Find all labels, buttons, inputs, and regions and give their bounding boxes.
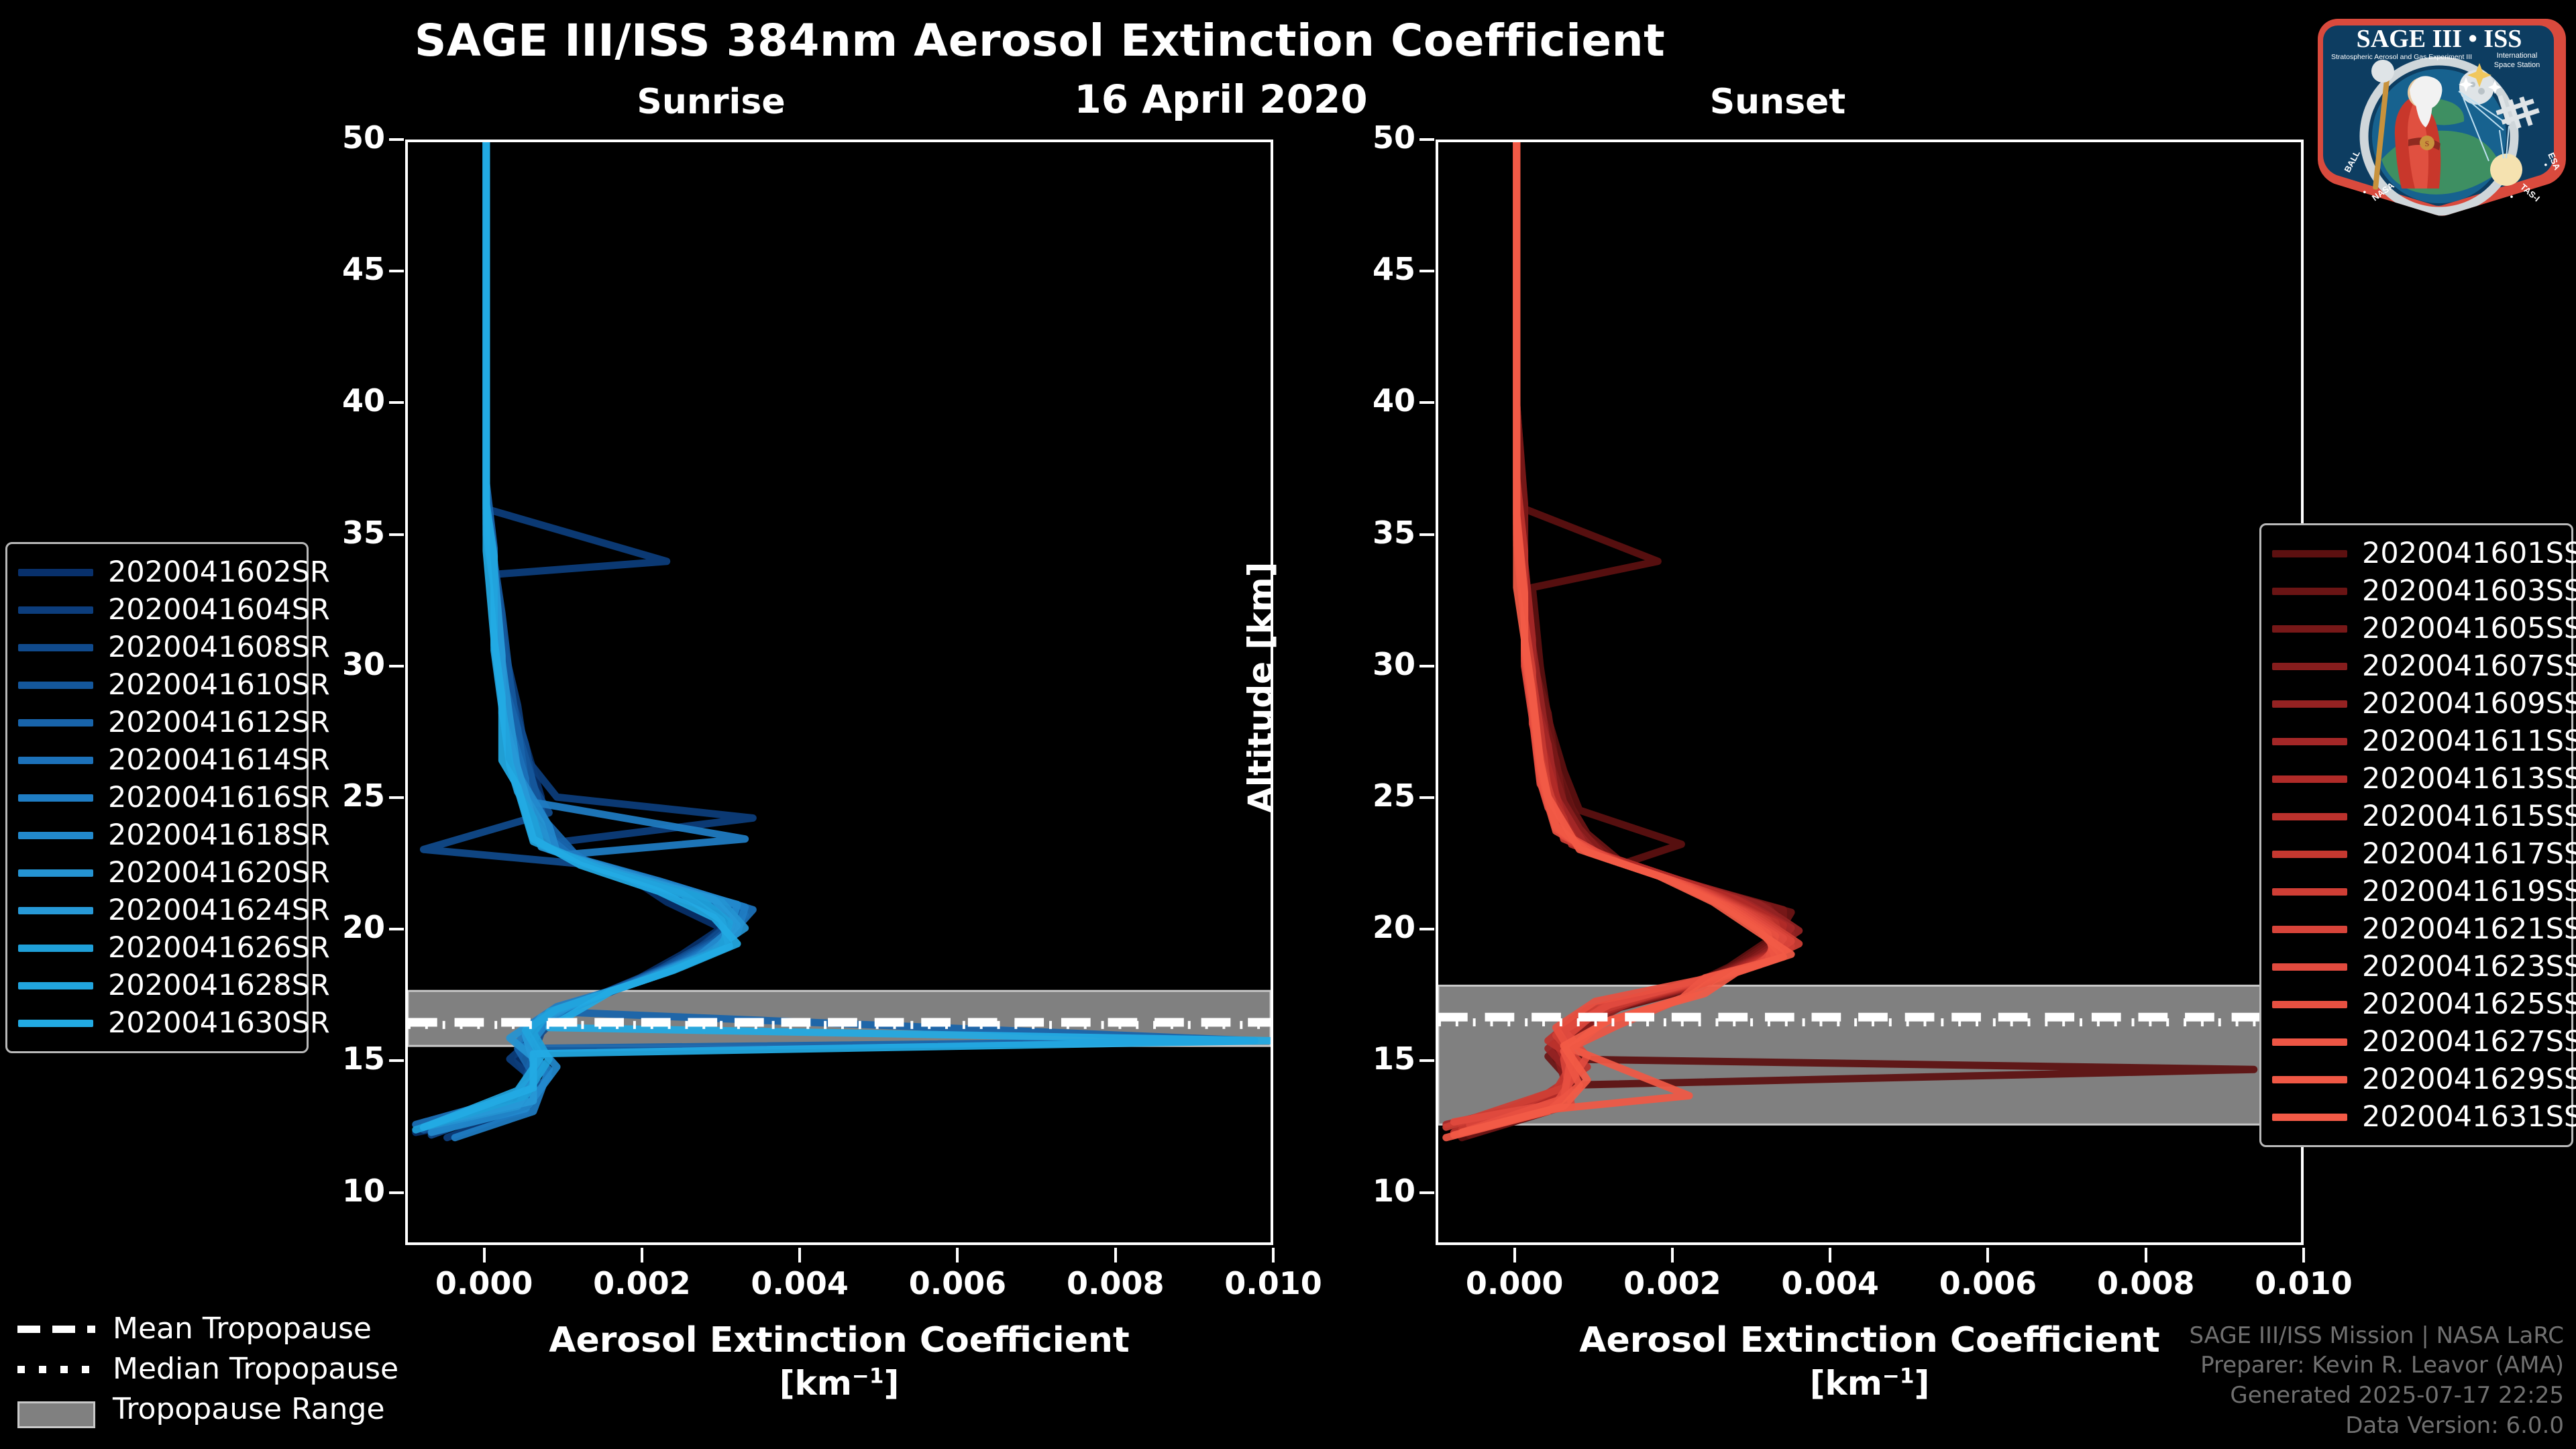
legend-item[interactable]: 2020041601SS [2272,535,2558,572]
profile-line [1446,142,1799,1127]
profile-line [423,142,1271,1127]
legend-event-label: 2020041625SS [2362,987,2576,1021]
x-axis-tick-label: 0.004 [726,1265,873,1301]
y-axis-tick-mark [389,928,404,930]
sunrise-legend[interactable]: 2020041602SR2020041604SR2020041608SR2020… [5,542,309,1053]
profile-line [1454,142,1783,1132]
legend-color-swatch [2272,813,2347,820]
legend-color-swatch [18,982,93,989]
profile-line [431,142,737,1132]
svg-text:S: S [2425,139,2430,148]
y-axis-tick-label: 10 [284,1173,385,1209]
legend-item[interactable]: 2020041625SS [2272,985,2558,1023]
legend-color-swatch [18,1020,93,1027]
legend-color-swatch [18,794,93,802]
legend-color-swatch [2272,625,2347,633]
legend-color-swatch [2272,1076,2347,1083]
y-axis-tick-label: 35 [1315,515,1415,551]
legend-item[interactable]: 2020041627SS [2272,1023,2558,1061]
legend-item[interactable]: 2020041607SS [2272,647,2558,685]
x-axis-tick-label: 0.002 [568,1265,716,1301]
legend-item[interactable]: 2020041631SS [2272,1098,2558,1136]
profile-line [1446,142,1791,1124]
y-axis-tick-mark [1419,1059,1434,1062]
patch-subtitle-left: Stratospheric Aerosol and Gas Experiment… [2331,53,2472,61]
legend-event-label: 2020041629SS [2362,1063,2576,1096]
legend-color-swatch [2272,1038,2347,1046]
legend-item[interactable]: 2020041615SS [2272,798,2558,835]
legend-color-swatch [18,832,93,839]
x-axis-tick-mark [2145,1248,2147,1263]
x-axis-tick-label: 0.000 [411,1265,558,1301]
legend-label-median: Median Tropopause [113,1352,398,1386]
y-axis-tick-label: 45 [1315,251,1415,287]
legend-item[interactable]: 2020041611SS [2272,722,2558,760]
y-axis-tick-label: 45 [284,251,385,287]
legend-item[interactable]: 2020041603SS [2272,572,2558,610]
legend-item[interactable]: 2020041613SS [2272,760,2558,798]
legend-event-label: 2020041614SR [108,743,330,777]
page-title: SAGE III/ISS 384nm Aerosol Extinction Co… [0,15,2080,66]
legend-item[interactable]: 2020041624SR [18,892,293,929]
x-axis-tick-label: 0.008 [2072,1265,2220,1301]
legend-color-swatch [18,606,93,614]
legend-event-label: 2020041619SS [2362,875,2576,908]
legend-color-swatch [2272,550,2347,557]
x-axis-tick-mark [1272,1248,1275,1263]
legend-color-swatch [2272,963,2347,971]
y-axis-tick-mark [389,138,404,141]
y-axis-tick-mark [389,665,404,667]
legend-color-swatch [2272,700,2347,708]
y-axis-tick-label: 50 [1315,119,1415,156]
x-axis-tick-mark [641,1248,643,1263]
legend-color-swatch [18,945,93,952]
legend-event-label: 2020041630SR [108,1006,330,1040]
x-axis-tick-label: 0.006 [1914,1265,2061,1301]
x-axis-title-text: Aerosol Extinction Coefficient [549,1320,1130,1360]
legend-item[interactable]: 2020041618SR [18,816,293,854]
legend-item[interactable]: 2020041602SR [18,553,293,591]
legend-label-mean: Mean Tropopause [113,1311,372,1346]
tropopause-legend: Mean Tropopause Median Tropopause Tropop… [17,1308,393,1429]
profile-line [439,142,1255,1127]
legend-item[interactable]: 2020041621SS [2272,910,2558,948]
sunset-legend[interactable]: 2020041601SS2020041603SS2020041605SS2020… [2259,523,2573,1147]
y-axis-tick-mark [389,796,404,799]
legend-event-label: 2020041621SS [2362,912,2576,946]
y-axis-tick-mark [389,1059,404,1062]
x-axis-tick-label: 0.006 [883,1265,1031,1301]
y-axis-tick-mark [1419,533,1434,536]
legend-item[interactable]: 2020041629SS [2272,1061,2558,1098]
legend-color-swatch [2272,926,2347,933]
profile-line [1462,142,1791,1130]
x-axis-tick-label: 0.010 [1199,1265,1347,1301]
credits-line-mission: SAGE III/ISS Mission | NASA LaRC [2189,1321,2564,1351]
legend-color-swatch [18,719,93,727]
y-axis-tick-label: 50 [284,119,385,156]
profile-line [423,142,745,1130]
legend-item[interactable]: 2020041616SR [18,779,293,816]
x-axis-tick-mark [1986,1248,1989,1263]
y-axis-tick-label: 15 [1315,1040,1415,1077]
legend-event-label: 2020041623SS [2362,950,2576,983]
legend-item[interactable]: 2020041614SR [18,741,293,779]
x-axis-tick-label: 0.004 [1756,1265,1904,1301]
legend-item[interactable]: 2020041630SR [18,1004,293,1042]
x-axis-unit: [km−1] [1436,1362,2304,1405]
x-axis-tick-mark [1829,1248,1831,1263]
y-axis-tick-label: 25 [1315,777,1415,814]
legend-item[interactable]: 2020041628SR [18,967,293,1004]
x-axis-tick-mark [798,1248,801,1263]
observation-date: 16 April 2020 [986,76,1456,122]
y-axis-tick-label: 30 [1315,646,1415,682]
x-axis-tick-label: 0.008 [1042,1265,1189,1301]
y-axis-tick-mark [389,1191,404,1194]
y-axis-tick-mark [1419,270,1434,272]
gray-band-swatch-icon [17,1400,95,1417]
x-axis-tick-mark [956,1248,959,1263]
legend-event-label: 2020041626SR [108,931,330,965]
y-axis-tick-mark [1419,796,1434,799]
y-axis-tick-mark [1419,138,1434,141]
legend-event-label: 2020041616SR [108,781,330,814]
credits-block: SAGE III/ISS Mission | NASA LaRC Prepare… [2189,1321,2564,1442]
x-axis-tick-mark [1114,1248,1117,1263]
legend-event-label: 2020041602SR [108,555,330,589]
y-axis-tick-mark [389,270,404,272]
legend-color-swatch [18,907,93,914]
legend-event-label: 2020041611SS [2362,724,2576,758]
legend-item-median-tropopause: Median Tropopause [17,1348,393,1389]
legend-event-label: 2020041601SS [2362,537,2576,570]
legend-event-label: 2020041603SS [2362,574,2576,608]
y-axis-tick-mark [1419,401,1434,404]
credits-line-preparer: Preparer: Kevin R. Leavor (AMA) [2189,1350,2564,1381]
y-axis-tick-mark [1419,1191,1434,1194]
legend-item-tropopause-range: Tropopause Range [17,1389,393,1429]
profile-line [1462,142,1776,1132]
legend-color-swatch [2272,888,2347,896]
profile-line [423,142,745,1127]
y-axis-tick-label: 10 [1315,1173,1415,1209]
legend-item[interactable]: 2020041609SS [2272,685,2558,722]
y-axis-tick-label: 20 [1315,909,1415,945]
legend-event-label: 2020041612SR [108,706,330,739]
y-axis-tick-label: 40 [284,382,385,419]
patch-subtitle-right-2: Space Station [2494,61,2540,69]
credits-line-version: Data Version: 6.0.0 [2189,1411,2564,1441]
legend-color-swatch [18,757,93,764]
legend-color-swatch [18,569,93,576]
sunset-panel-title: Sunset [1644,82,1912,122]
x-axis-tick-mark [483,1248,486,1263]
y-axis-tick-mark [389,401,404,404]
x-axis-tick-mark [1513,1248,1516,1263]
patch-subtitle-right-1: International [2497,52,2538,60]
legend-event-label: 2020041608SR [108,631,330,664]
profile-line [423,142,737,1135]
legend-color-swatch [2272,851,2347,858]
sunrise-plot-panel [405,140,1273,1245]
legend-item[interactable]: 2020041610SR [18,666,293,704]
legend-event-label: 2020041605SS [2362,612,2576,645]
legend-item[interactable]: 2020041619SS [2272,873,2558,910]
legend-event-label: 2020041628SR [108,969,330,1002]
x-axis-title-text: Aerosol Extinction Coefficient [1579,1320,2160,1360]
x-axis-tick-label: 0.002 [1599,1265,1746,1301]
legend-event-label: 2020041617SS [2362,837,2576,871]
legend-event-label: 2020041615SS [2362,800,2576,833]
legend-item[interactable]: 2020041608SR [18,629,293,666]
legend-color-swatch [2272,1114,2347,1121]
y-axis-tick-mark [1419,665,1434,667]
legend-event-label: 2020041609SS [2362,687,2576,720]
y-axis-tick-label: 40 [1315,382,1415,419]
y-axis-tick-mark [389,533,404,536]
legend-color-swatch [2272,663,2347,670]
legend-event-label: 2020041618SR [108,818,330,852]
sunset-plot-panel [1436,140,2304,1245]
x-axis-title: Aerosol Extinction Coefficient[km−1] [1436,1319,2304,1405]
legend-item[interactable]: 2020041612SR [18,704,293,741]
legend-event-label: 2020041631SS [2362,1100,2576,1134]
legend-color-swatch [2272,775,2347,783]
legend-item[interactable]: 2020041620SR [18,854,293,892]
legend-event-label: 2020041604SR [108,593,330,627]
x-axis-tick-label: 0.010 [2230,1265,2377,1301]
legend-item[interactable]: 2020041623SS [2272,948,2558,985]
legend-item[interactable]: 2020041604SR [18,591,293,629]
legend-label-range: Tropopause Range [113,1392,385,1426]
legend-event-label: 2020041627SS [2362,1025,2576,1059]
dashed-line-icon [17,1320,95,1337]
legend-item[interactable]: 2020041626SR [18,929,293,967]
x-axis-title: Aerosol Extinction Coefficient[km−1] [405,1319,1273,1405]
profile-line [416,142,722,1132]
profile-line [1462,142,1791,1132]
legend-item[interactable]: 2020041617SS [2272,835,2558,873]
sunrise-panel-title: Sunrise [577,82,845,122]
x-axis-tick-mark [1671,1248,1674,1263]
x-axis-unit: [km−1] [405,1362,1273,1405]
sage-iii-iss-mission-patch-logo: S BALL • NASA • TAS-I • ESA SAGE III • I… [2308,5,2569,219]
legend-item[interactable]: 2020041605SS [2272,610,2558,647]
dotted-line-icon [17,1360,95,1377]
x-axis-tick-mark [2302,1248,2305,1263]
y-axis-tick-mark [1419,928,1434,930]
patch-title: SAGE III • ISS [2357,25,2522,53]
y-axis-title: Altitude [km] [1241,561,1280,813]
profile-line [1462,142,1799,1127]
legend-color-swatch [18,869,93,877]
legend-event-label: 2020041613SS [2362,762,2576,796]
legend-color-swatch [2272,588,2347,595]
profile-line [416,142,753,1124]
x-axis-tick-label: 0.000 [1441,1265,1589,1301]
legend-color-swatch [2272,1001,2347,1008]
legend-color-swatch [18,682,93,689]
profile-line [416,142,730,1130]
legend-item-mean-tropopause: Mean Tropopause [17,1308,393,1348]
credits-line-generated: Generated 2025-07-17 22:25 [2189,1381,2564,1411]
legend-event-label: 2020041607SS [2362,649,2576,683]
legend-color-swatch [18,644,93,651]
legend-event-label: 2020041610SR [108,668,330,702]
legend-event-label: 2020041624SR [108,894,330,927]
profile-line [431,142,729,1124]
legend-color-swatch [2272,738,2347,745]
legend-event-label: 2020041620SR [108,856,330,890]
profile-line [1454,142,1783,1132]
